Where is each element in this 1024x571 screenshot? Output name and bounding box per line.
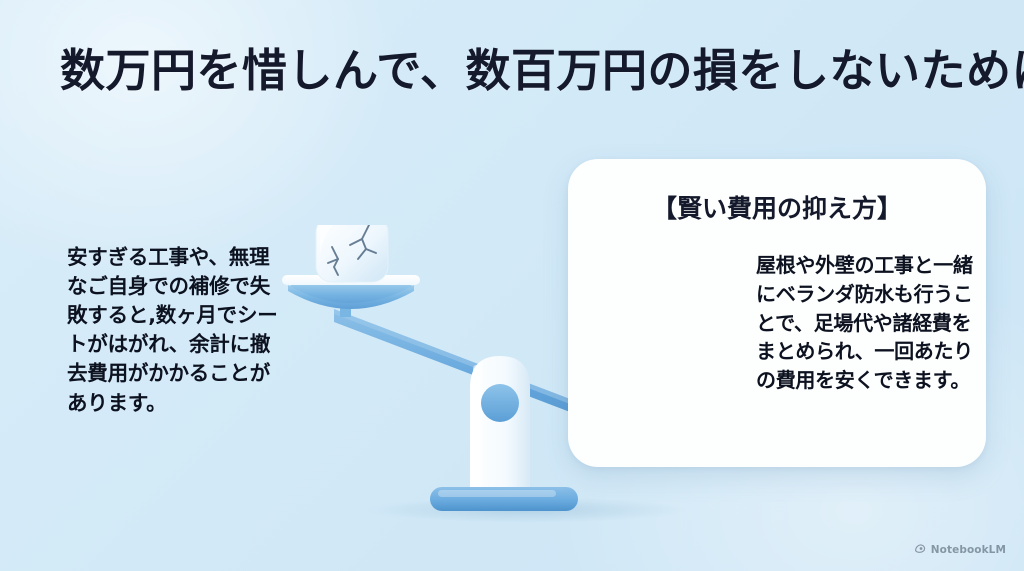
cracked-tile-icon [316,225,388,282]
notebooklm-watermark: NotebookLM [914,540,1006,559]
page-title: 数万円を惜しんで、数百万円の損をしないために [60,44,980,97]
notebooklm-label: NotebookLM [931,544,1006,556]
scale-column [470,356,530,491]
card-body-text: 屋根や外壁の工事と一緒にベランダ防水も行うことで、足場代や諸経費をまとめられ、一… [756,251,974,395]
tip-card: 【賢い費用の抑え方】 屋根や外壁の工事と一緒にベランダ防水も行うことで、足場代や… [568,159,986,467]
scale-base-highlight [438,490,556,497]
left-body-text: 安すぎる工事や、無理なご自身での補修で失敗すると,数ヶ月でシートがはがれ、余計に… [67,243,279,418]
pivot-dot [481,384,519,422]
card-heading: 【賢い費用の抑え方】 [568,189,986,225]
notebooklm-icon [914,540,927,559]
slide-canvas: 数万円を惜しんで、数百万円の損をしないために 安すぎる工事や、無理なご自身での補… [0,0,1024,571]
